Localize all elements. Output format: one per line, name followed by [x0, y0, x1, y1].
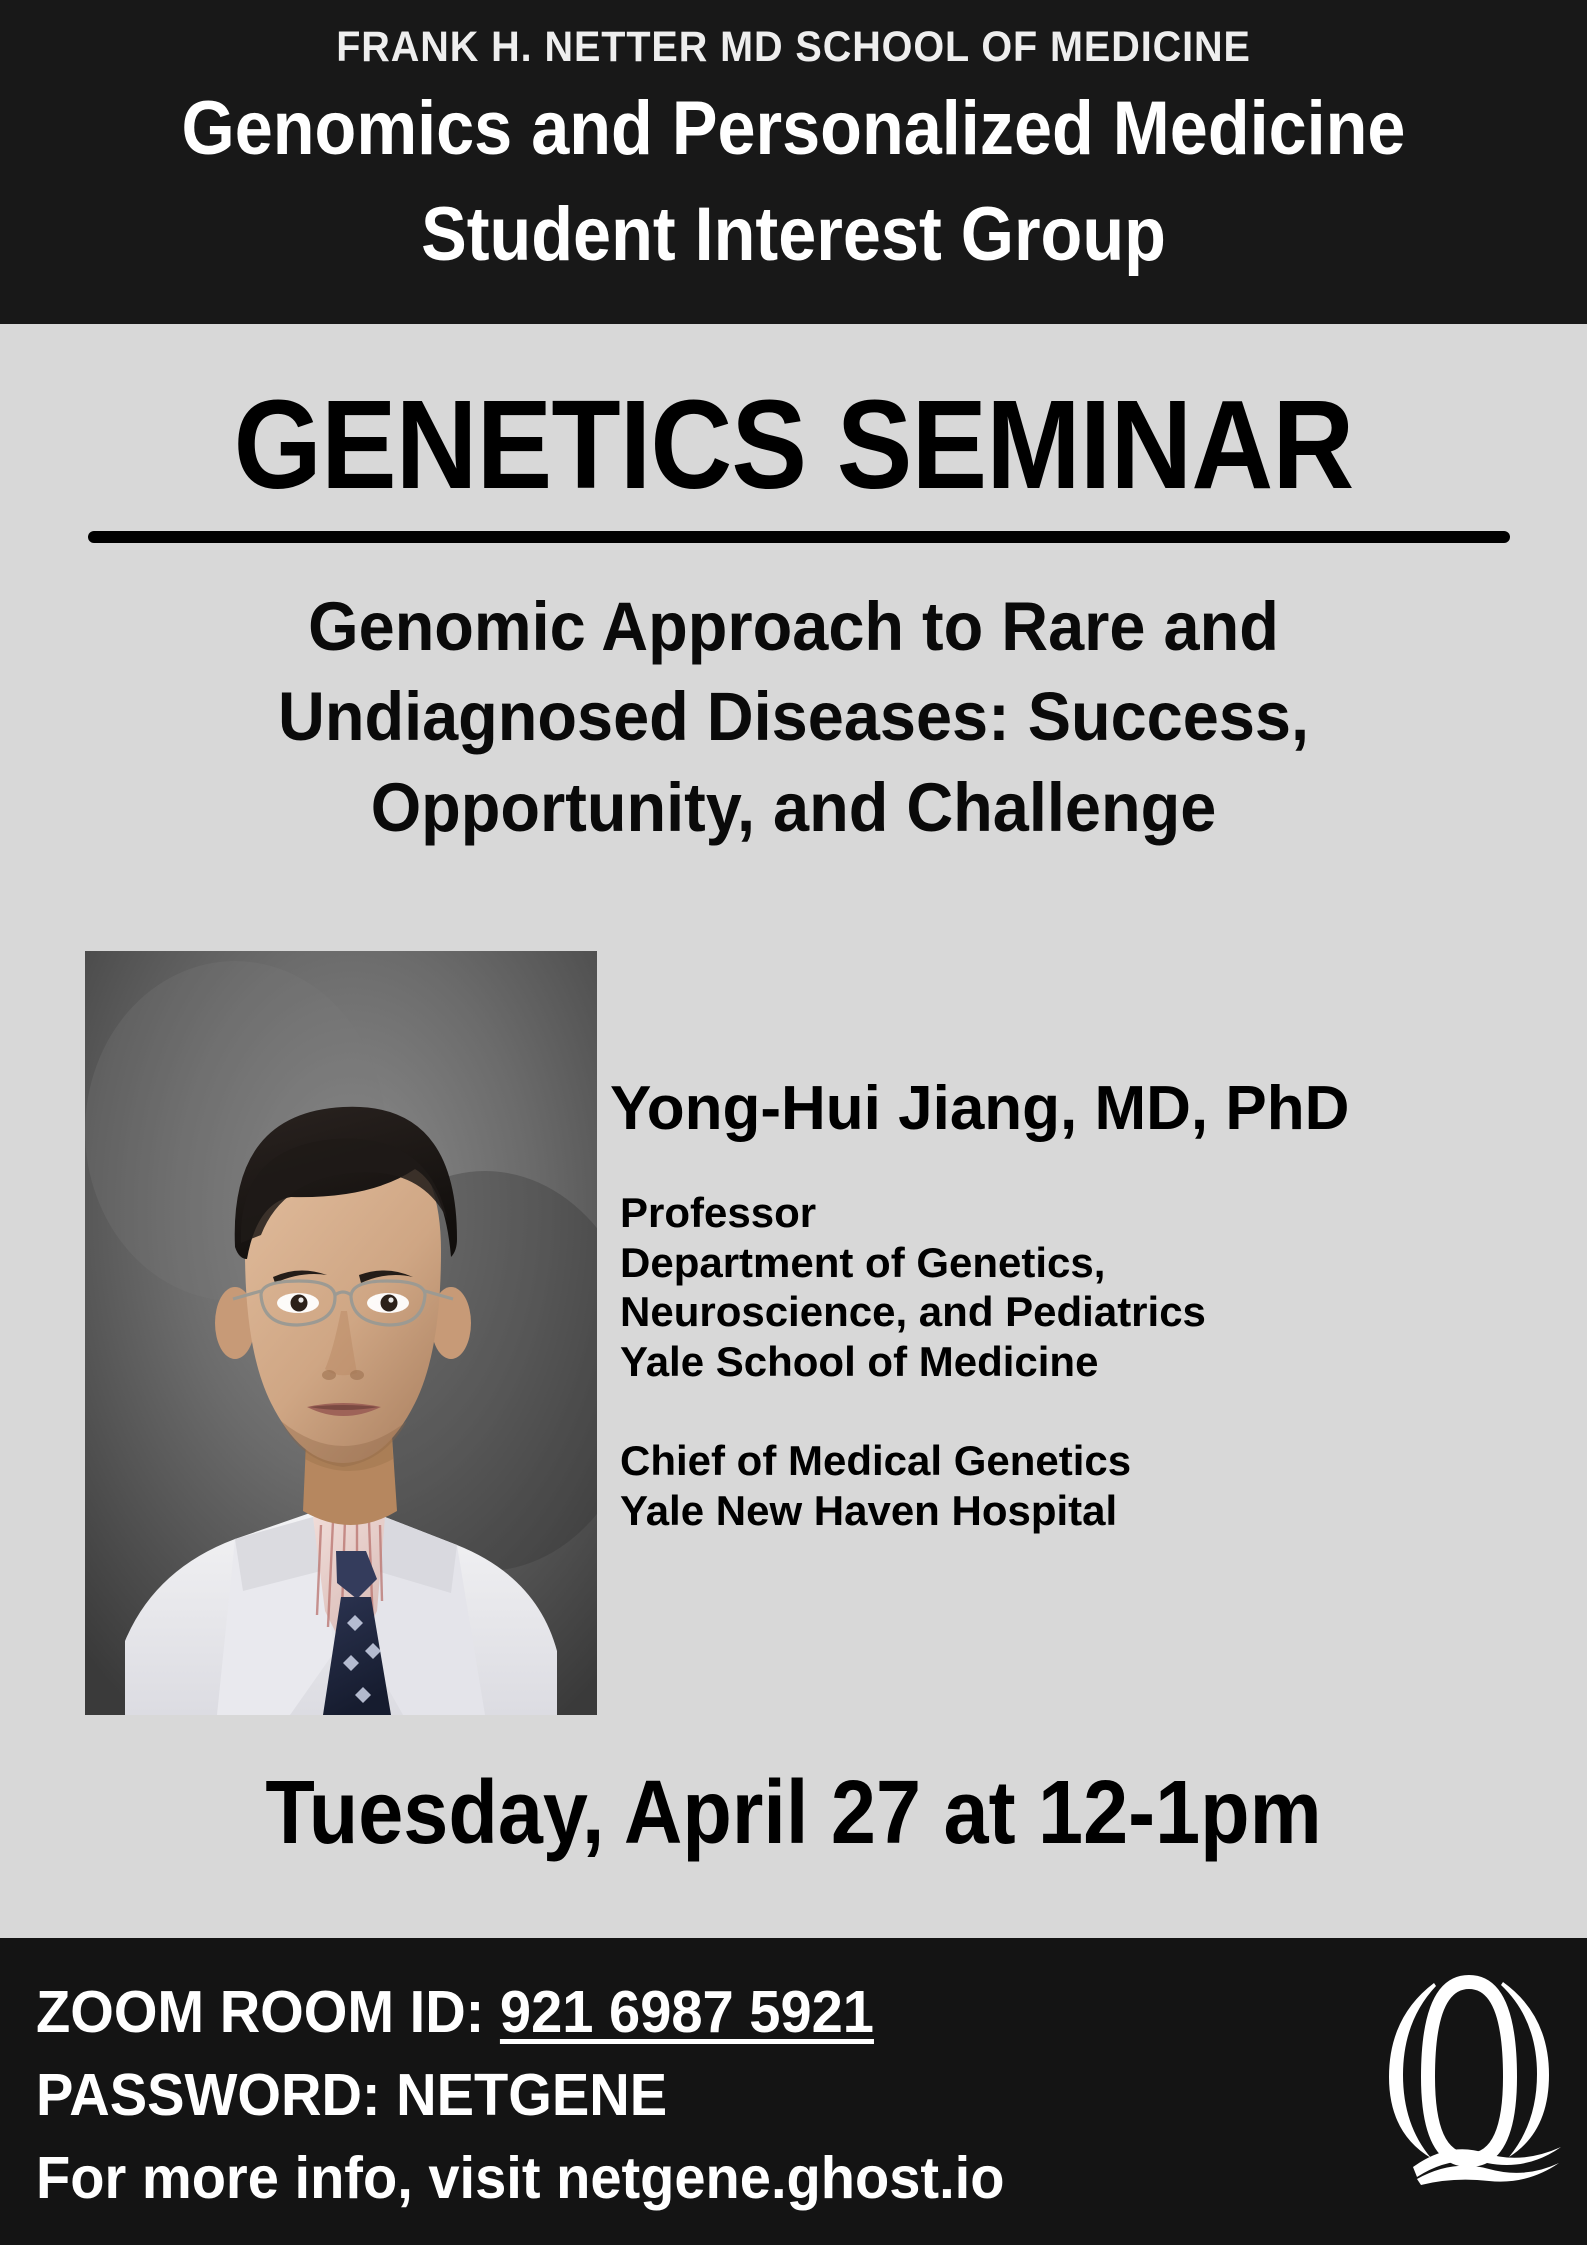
zoom-room-id[interactable]: 921 6987 5921 — [500, 1979, 874, 2045]
q-logo-icon — [1387, 1955, 1567, 2185]
affiliation-line-4: Yale School of Medicine — [620, 1337, 1450, 1387]
affiliation-line-3: Neuroscience, and Pediatrics — [620, 1287, 1450, 1337]
talk-title: Genomic Approach to Rare and Undiagnosed… — [160, 582, 1426, 853]
speaker-photo — [85, 951, 597, 1715]
zoom-password-row: PASSWORD: NETGENE — [36, 2054, 1271, 2137]
footer-details: ZOOM ROOM ID: 921 6987 5921 PASSWORD: NE… — [36, 1971, 1271, 2221]
group-name-line-2: Student Interest Group — [79, 194, 1507, 276]
affiliation-spacer — [620, 1386, 1450, 1436]
role-line-1: Chief of Medical Genetics — [620, 1436, 1450, 1486]
zoom-room-row: ZOOM ROOM ID: 921 6987 5921 — [36, 1971, 1271, 2054]
organization-name: FRANK H. NETTER MD SCHOOL OF MEDICINE — [63, 26, 1523, 69]
speaker-affiliation-block: Professor Department of Genetics, Neuros… — [620, 1188, 1450, 1535]
affiliation-line-1: Professor — [620, 1188, 1450, 1238]
role-line-2: Yale New Haven Hospital — [620, 1486, 1450, 1536]
event-type-heading: GENETICS SEMINAR — [79, 382, 1507, 508]
title-divider-rule — [88, 531, 1510, 543]
seminar-poster: FRANK H. NETTER MD SCHOOL OF MEDICINE Ge… — [0, 0, 1587, 2245]
event-date-time: Tuesday, April 27 at 12-1pm — [79, 1768, 1507, 1858]
more-info-row[interactable]: For more info, visit netgene.ghost.io — [36, 2137, 1271, 2220]
quinnipiac-q-logo — [1387, 1955, 1567, 2185]
speaker-name: Yong-Hui Jiang, MD, PhD — [610, 1078, 1349, 1140]
zoom-room-label: ZOOM ROOM ID: — [36, 1979, 500, 2045]
speaker-headshot-image — [85, 951, 597, 1715]
affiliation-line-2: Department of Genetics, — [620, 1238, 1450, 1288]
group-name-line-1: Genomics and Personalized Medicine — [79, 88, 1507, 170]
